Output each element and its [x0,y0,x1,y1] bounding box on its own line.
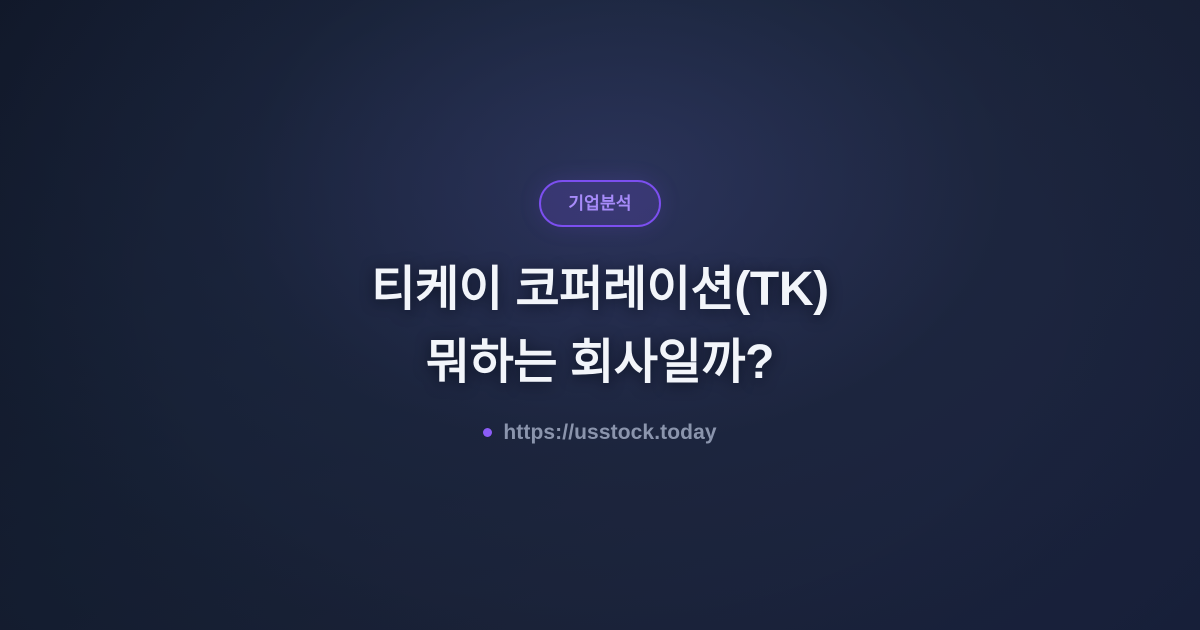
bullet-dot-icon [483,428,492,437]
site-url: https://usstock.today [483,422,716,443]
og-share-card: 기업분석 티케이 코퍼레이션(TK) 뭐하는 회사일까? https://uss… [0,0,1200,630]
site-url-label: https://usstock.today [503,422,716,443]
page-title-line-2: 뭐하는 회사일까? [371,326,828,399]
card-content: 기업분석 티케이 코퍼레이션(TK) 뭐하는 회사일까? https://uss… [0,180,1200,451]
page-title: 티케이 코퍼레이션(TK) 뭐하는 회사일까? [371,253,828,399]
page-title-line-1: 티케이 코퍼레이션(TK) [371,253,828,326]
category-badge: 기업분석 [539,180,660,227]
